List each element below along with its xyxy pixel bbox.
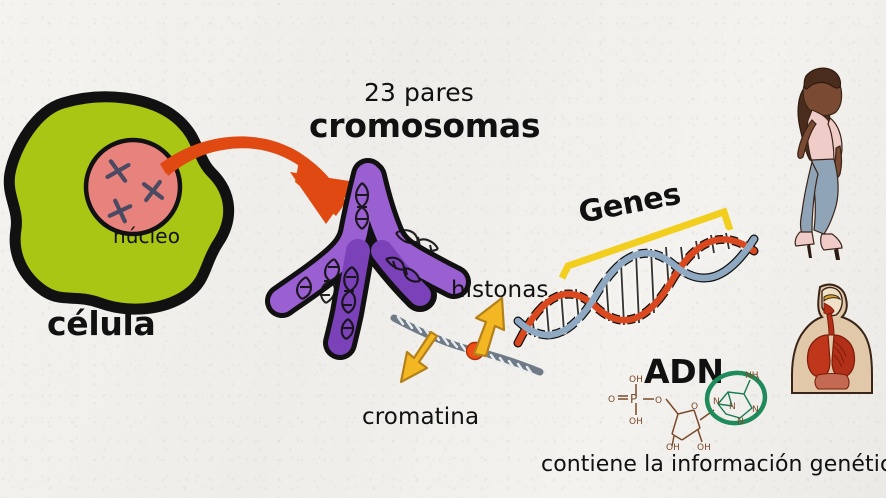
chem-double-o: O [608,395,615,405]
base-bonds [718,380,752,418]
woman-shoe-front [821,234,842,250]
woman-shoe-back [795,232,814,246]
nucleotide-structure: O P OH OH O O OH OH NH 2 N N N N [596,370,786,450]
woman-heel-back [807,244,812,258]
yellow-arrow-to-cromatina [397,332,453,400]
respiratory-torso-figure [784,283,880,401]
chem-ester-o: O [655,396,662,406]
chem-n3: N [752,405,759,415]
chem-oh-bottom: OH [629,417,643,427]
walking-woman-figure [772,62,882,277]
chem-n2: N [729,402,736,412]
caption-label: contiene la información genética [541,452,886,477]
woman-heel-front [834,248,840,260]
diaphragm [815,374,849,390]
cromatina-label: cromatina [362,404,479,430]
chem-n4: N [737,417,744,427]
chem-sugar-ring-o: O [691,402,698,412]
chem-nh2-sub: 2 [756,376,760,383]
yellow-arrow-to-histonas [466,296,510,358]
chem-oh-top: OH [629,375,643,385]
dna-double-helix [510,225,780,365]
cromosomas-label: cromosomas [309,106,540,145]
chem-n1: N [713,397,720,407]
diagram-canvas: núcleo célula 23 pares cromosomas [0,0,886,498]
chem-p: P [630,392,637,406]
celula-label: célula [47,304,156,343]
pares-label: 23 pares [364,78,474,107]
